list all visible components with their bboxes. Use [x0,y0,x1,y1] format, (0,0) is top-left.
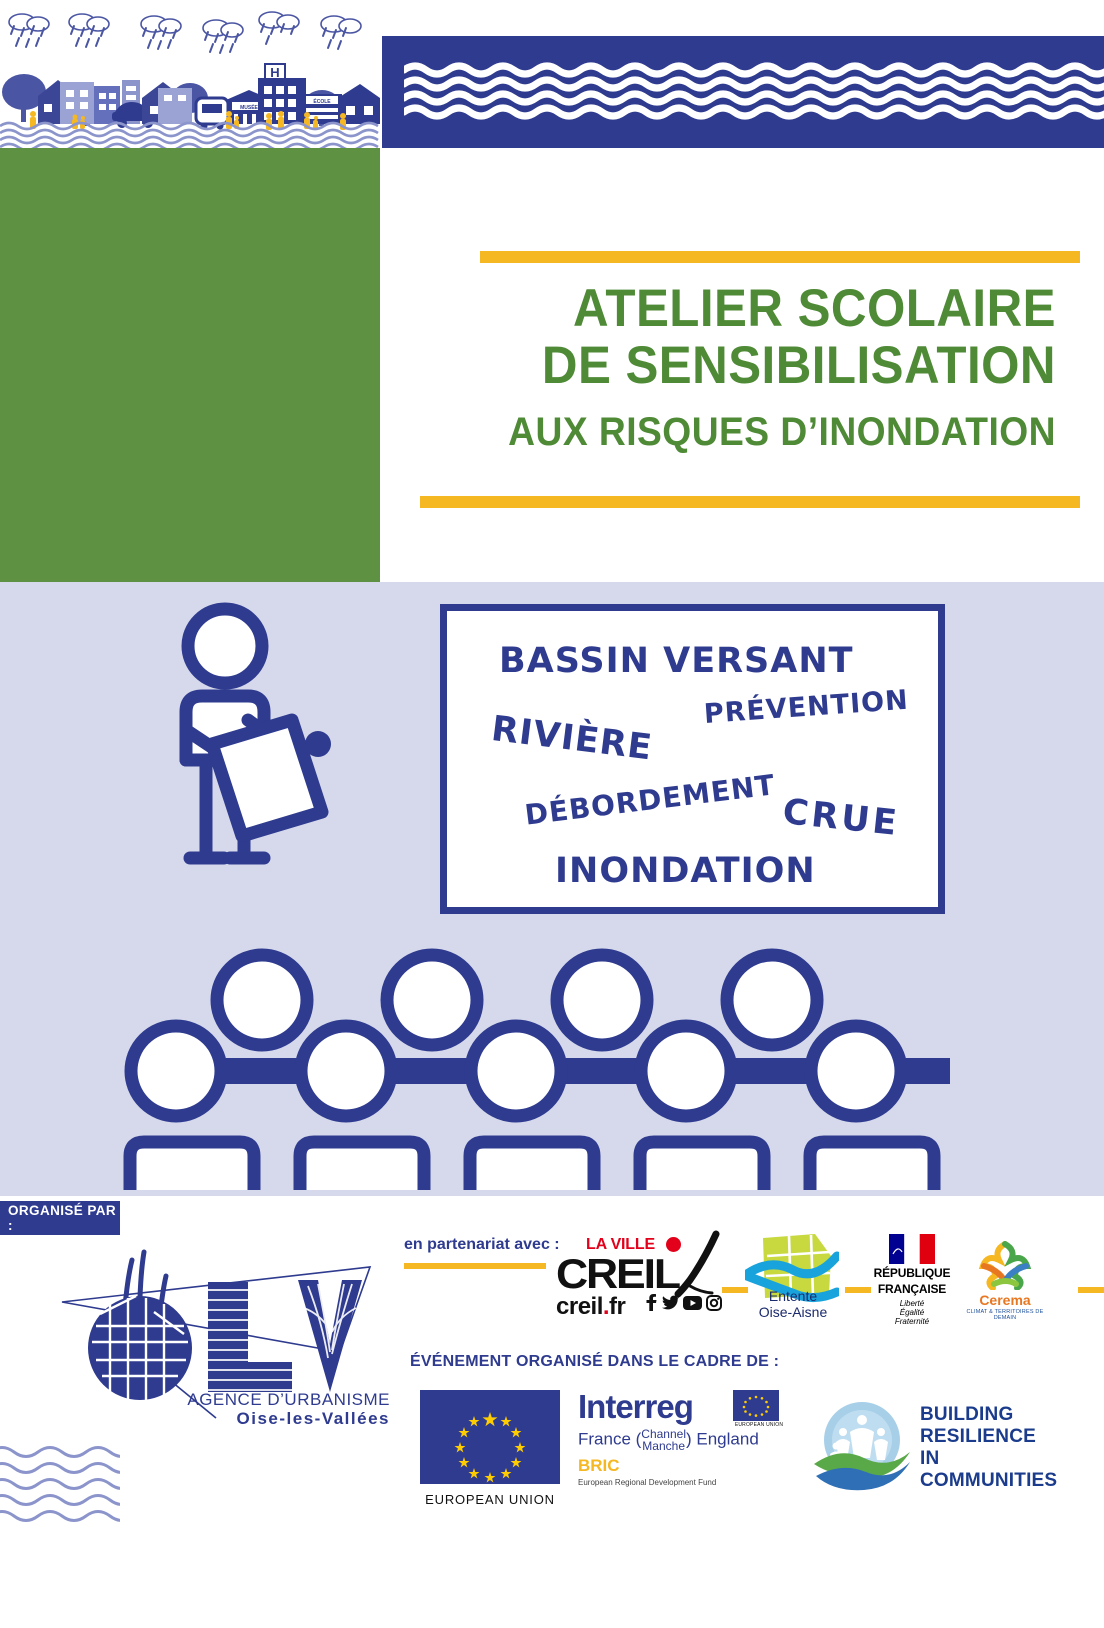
audience-head [131,1026,221,1116]
interreg-region-fraction: ChannelManche [641,1428,686,1452]
creil-logo: LA VILLE CREIL creil.fr [556,1236,718,1314]
word-debordement: DÉBORDEMENT [523,768,777,831]
entente-line-1: Entente [745,1288,841,1304]
interreg-region-right: ) England [686,1429,759,1448]
creil-dot-red: . [603,1293,609,1320]
bric-line-3: IN [920,1448,1057,1470]
rf-line-2: FRANÇAISE [872,1283,952,1296]
interreg-logo: Interreg France (ChannelManche) England … [578,1390,788,1500]
audience-desk [130,1142,254,1190]
interreg-eu-caption: EUROPEAN UNION [733,1422,785,1428]
instagram-icon[interactable] [706,1295,722,1311]
bric-line-1: BUILDING [920,1404,1057,1426]
header: MUSÉE H É [0,0,1104,148]
european-union-caption: EUROPEAN UNION [420,1492,560,1507]
european-union-flag [420,1390,560,1484]
footer-wave-decoration [0,1440,120,1560]
audience-head [557,955,647,1045]
school-label: ÉCOLE [313,97,331,105]
partner-divider-dash [1078,1287,1104,1293]
poster-root: MUSÉE H É [0,0,1104,1628]
rf-line-1: RÉPUBLIQUE [872,1267,952,1280]
interreg-region-left: France ( [578,1429,641,1448]
olv-caption-line-2: Oise-les-Vallées [150,1409,390,1429]
word-crue: CRUE [781,792,902,844]
presenter-figure [150,600,380,940]
audience-desk [470,1142,594,1190]
creil-social-icons [644,1294,722,1311]
entente-line-2: Oise-Aisne [745,1304,841,1320]
french-flag-icon [889,1234,935,1264]
title-line-1: ATELIER SCOLAIRE [427,280,1056,337]
flooded-town-illustration: MUSÉE H É [0,0,380,148]
word-inondation: INONDATION [555,851,816,891]
cerema-tagline: CLIMAT & TERRITOIRES DE DEMAIN [960,1309,1050,1321]
bric-text: BUILDING RESILIENCE IN COMMUNITIES [920,1404,1057,1492]
audience-head [217,955,307,1045]
republique-francaise-logo: RÉPUBLIQUE FRANÇAISE LibertéÉgalitéFrate… [872,1234,952,1320]
title-rule-bottom [420,496,1080,508]
word-riviere: RIVIÈRE [489,709,655,768]
wave-lines-svg [404,62,1104,124]
twitter-icon[interactable] [662,1294,679,1311]
creil-swoosh-icon [666,1230,726,1300]
audience-svg [110,940,1010,1190]
facebook-icon[interactable] [644,1294,658,1311]
cerema-logo: Cerema CLIMAT & TERRITOIRES DE DEMAIN [960,1240,1050,1320]
word-bassin-versant: BASSIN VERSANT [499,641,854,681]
rf-motto: LibertéÉgalitéFraternité [872,1299,952,1326]
green-color-block [0,148,380,582]
whiteboard: BASSIN VERSANT RIVIÈRE PRÉVENTION DÉBORD… [440,604,945,914]
interreg-eu-flag-icon [733,1390,779,1421]
youtube-icon[interactable] [683,1296,702,1310]
interreg-region: France (ChannelManche) England [578,1428,788,1452]
bric-mark-svg [812,1398,912,1498]
audience-illustration [110,940,1010,1190]
page-title: ATELIER SCOLAIRE DE SENSIBILISATION AUX … [380,280,1080,462]
creil-wordmark: CREIL [556,1250,679,1298]
presenter-svg [150,600,380,940]
eu-flag-svg [420,1390,560,1484]
olv-caption-line-1: AGENCE D’URBANISME [150,1390,390,1409]
audience-head [811,1026,901,1116]
audience-head [641,1026,731,1116]
museum-label: MUSÉE [240,103,258,111]
interreg-fund: European Regional Development Fund [578,1478,788,1487]
audience-head [387,955,477,1045]
audience-desk [300,1142,424,1190]
bric-line-4: COMMUNITIES [920,1470,1057,1492]
audience-desk [640,1142,764,1190]
interreg-fraction-bottom: Manche [642,1439,685,1453]
title-rule-top [480,251,1080,263]
audience-head [727,955,817,1045]
cerema-mark-svg [974,1240,1036,1290]
interreg-programme: BRIC [578,1456,788,1476]
audience-head [301,1026,391,1116]
hospital-label: H [270,65,279,80]
entente-oise-aisne-label: Entente Oise-Aisne [745,1288,841,1320]
partnership-rule [404,1263,546,1269]
whiteboard-words: BASSIN VERSANT RIVIÈRE PRÉVENTION DÉBORD… [447,611,938,907]
word-prevention: PRÉVENTION [703,685,910,730]
audience-desk [810,1142,934,1190]
town-skyline-svg: MUSÉE H É [0,0,380,148]
framework-label: ÉVÉNEMENT ORGANISÉ DANS LE CADRE DE : [410,1353,779,1371]
creil-website: creil.fr [556,1293,625,1321]
audience-head [471,1026,561,1116]
cerema-wordmark: Cerema [960,1292,1050,1308]
header-wave-band [382,36,1104,148]
bric-line-2: RESILIENCE [920,1426,1057,1448]
olv-caption: AGENCE D’URBANISME Oise-les-Vallées [150,1390,390,1429]
bric-logo: BUILDING RESILIENCE IN COMMUNITIES [812,1398,1092,1498]
title-line-2: DE SENSIBILISATION [427,337,1056,394]
title-line-3: AUX RISQUES D’INONDATION [427,402,1056,462]
partner-divider-dash [845,1287,871,1293]
interreg-eu-badge: EUROPEAN UNION [733,1390,785,1428]
partnership-label: en partenariat avec : [404,1236,560,1254]
